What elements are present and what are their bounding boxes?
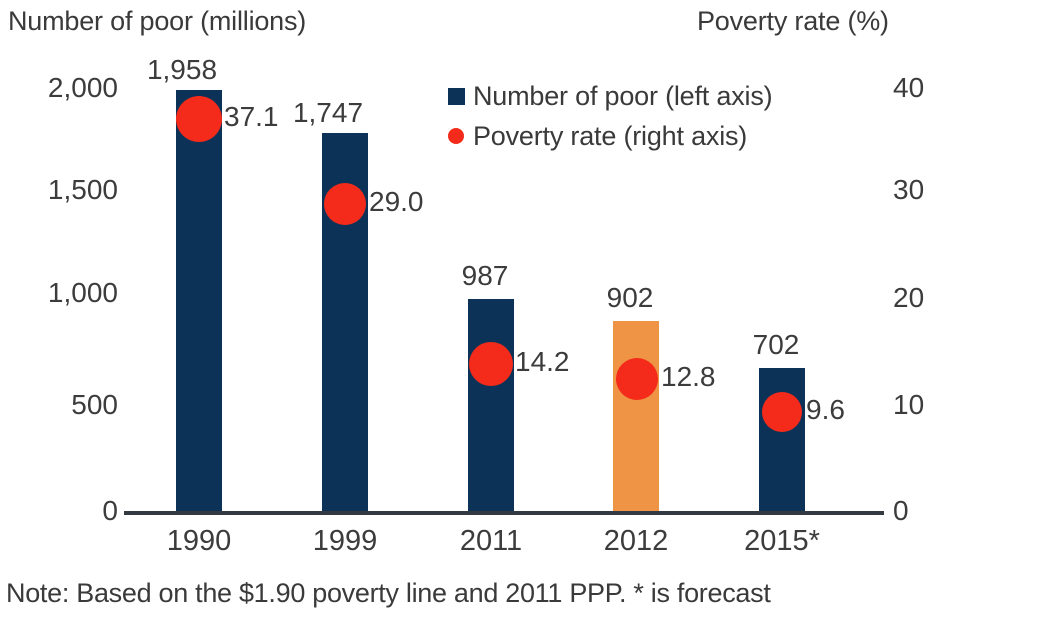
category-label-1990: 1990 — [119, 527, 279, 556]
bar-1990[interactable] — [176, 90, 222, 513]
chart-legend: Number of poor (left axis)Poverty rate (… — [448, 76, 772, 156]
legend-circle-icon — [448, 128, 464, 144]
right-axis-tick-2: 20 — [893, 284, 924, 312]
poverty-rate-dot-4[interactable] — [762, 392, 802, 432]
category-label-2011: 2011 — [411, 527, 571, 556]
left-axis-tick-1: 1,500 — [48, 176, 118, 204]
legend-item-0[interactable]: Number of poor (left axis) — [448, 76, 772, 116]
left-axis-tick-4: 0 — [102, 497, 118, 525]
category-label-1999: 1999 — [265, 527, 425, 556]
left-axis-tick-2: 1,000 — [48, 279, 118, 307]
bar-value-label-3: 902 — [550, 284, 710, 312]
legend-square-icon — [448, 88, 465, 105]
poverty-rate-dot-0[interactable] — [176, 96, 222, 142]
bar-2011[interactable] — [468, 299, 514, 513]
category-label-2015f: 2015* — [702, 527, 862, 556]
left-axis-tick-3: 500 — [71, 391, 118, 419]
poverty-rate-dot-2[interactable] — [469, 342, 513, 386]
bar-2015f[interactable] — [759, 368, 805, 513]
category-label-2012: 2012 — [556, 527, 716, 556]
poverty-rate-label-4: 9.6 — [806, 396, 845, 424]
legend-item-label-1: Poverty rate (right axis) — [473, 121, 747, 152]
bar-2012[interactable] — [613, 321, 659, 513]
right-axis-tick-1: 30 — [893, 176, 924, 204]
poverty-rate-dot-1[interactable] — [324, 183, 366, 225]
poverty-rate-label-2: 14.2 — [515, 348, 570, 376]
poverty-rate-label-3: 12.8 — [661, 363, 716, 391]
chart-note: Note: Based on the $1.90 poverty line an… — [6, 578, 771, 609]
right-axis-tick-3: 10 — [893, 391, 924, 419]
legend-item-label-0: Number of poor (left axis) — [473, 81, 772, 112]
bar-value-label-0: 1,958 — [102, 56, 262, 84]
bar-value-label-2: 987 — [405, 262, 565, 290]
right-axis-tick-4: 0 — [893, 497, 909, 525]
legend-item-1[interactable]: Poverty rate (right axis) — [448, 116, 772, 156]
right-axis-tick-0: 40 — [893, 74, 924, 102]
poverty-rate-dot-3[interactable] — [616, 358, 658, 400]
poverty-rate-label-1: 29.0 — [369, 188, 424, 216]
bar-value-label-4: 702 — [696, 331, 856, 359]
bar-value-label-1: 1,747 — [248, 99, 408, 127]
x-axis-baseline — [124, 511, 884, 515]
